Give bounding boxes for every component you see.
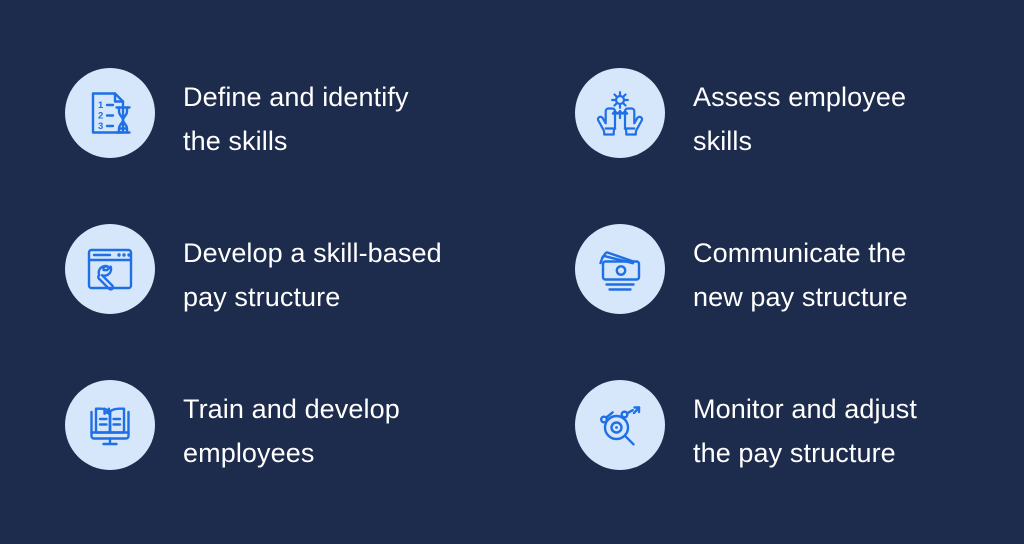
svg-text:2: 2	[98, 111, 103, 122]
step-item-define-and-identify-the-skills[interactable]: 1 2 3 Define and identify the skills	[65, 68, 575, 224]
svg-text:1: 1	[98, 100, 104, 111]
stacked-banknotes-icon	[575, 224, 665, 314]
step-label: Train and develop employees	[183, 380, 575, 475]
document-checklist-hourglass-icon: 1 2 3	[65, 68, 155, 158]
step-item-communicate-the-new-pay-structure[interactable]: Communicate the new pay structure	[575, 224, 1024, 380]
steps-grid: 1 2 3 Define and identify the skills	[65, 68, 1024, 536]
hands-gear-upward-arrows-icon	[575, 68, 665, 158]
step-label: Communicate the new pay structure	[693, 224, 1024, 319]
book-on-monitor-icon	[65, 380, 155, 470]
step-item-train-and-develop-employees[interactable]: Train and develop employees	[65, 380, 575, 536]
step-label: Define and identify the skills	[183, 68, 575, 163]
step-item-assess-employee-skills[interactable]: Assess employee skills	[575, 68, 1024, 224]
svg-text:3: 3	[98, 121, 103, 132]
browser-window-wrench-icon	[65, 224, 155, 314]
magnifier-growth-chart-icon	[575, 380, 665, 470]
step-label: Monitor and adjust the pay structure	[693, 380, 1024, 475]
skill-based-pay-infographic: 1 2 3 Define and identify the skills	[0, 0, 1024, 544]
step-label: Assess employee skills	[693, 68, 1024, 163]
step-item-develop-a-skill-based-pay-structure[interactable]: Develop a skill-based pay structure	[65, 224, 575, 380]
step-item-monitor-and-adjust-the-pay-structure[interactable]: Monitor and adjust the pay structure	[575, 380, 1024, 536]
step-label: Develop a skill-based pay structure	[183, 224, 575, 319]
